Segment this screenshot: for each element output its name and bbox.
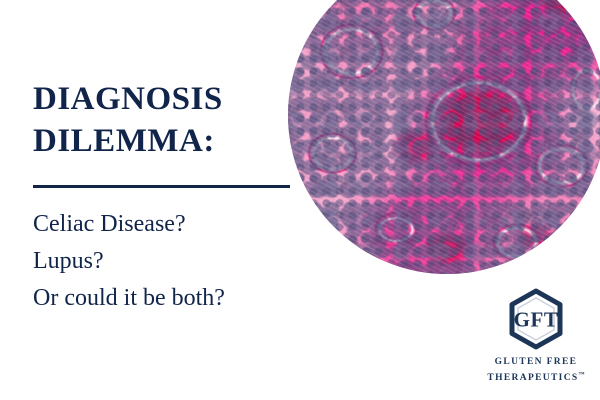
headline-line-1: DIAGNOSIS [33,78,303,120]
brand-logo: GFT GLUTEN FREE THERAPEUTICS™ [483,288,589,384]
page-title: DIAGNOSIS DILEMMA: [33,78,303,162]
logo-monogram: GFT [514,308,559,332]
question-list: Celiac Disease? Lupus? Or could it be bo… [33,206,373,317]
headline-line-2: DILEMMA: [33,120,303,162]
logo-tagline-word: THERAPEUTICS [487,373,578,383]
question-line-3: Or could it be both? [33,280,373,317]
question-line-2: Lupus? [33,243,373,280]
logo-tagline: GLUTEN FREE THERAPEUTICS™ [483,356,589,384]
logo-tagline-line-1: GLUTEN FREE [483,356,589,369]
promo-graphic: DIAGNOSIS DILEMMA: Celiac Disease? Lupus… [0,0,600,400]
hexagon-badge-icon: GFT [506,288,566,350]
divider-rule [33,185,290,188]
logo-tagline-line-2: THERAPEUTICS™ [483,369,589,385]
question-line-1: Celiac Disease? [33,206,373,243]
trademark-symbol: ™ [579,372,585,378]
